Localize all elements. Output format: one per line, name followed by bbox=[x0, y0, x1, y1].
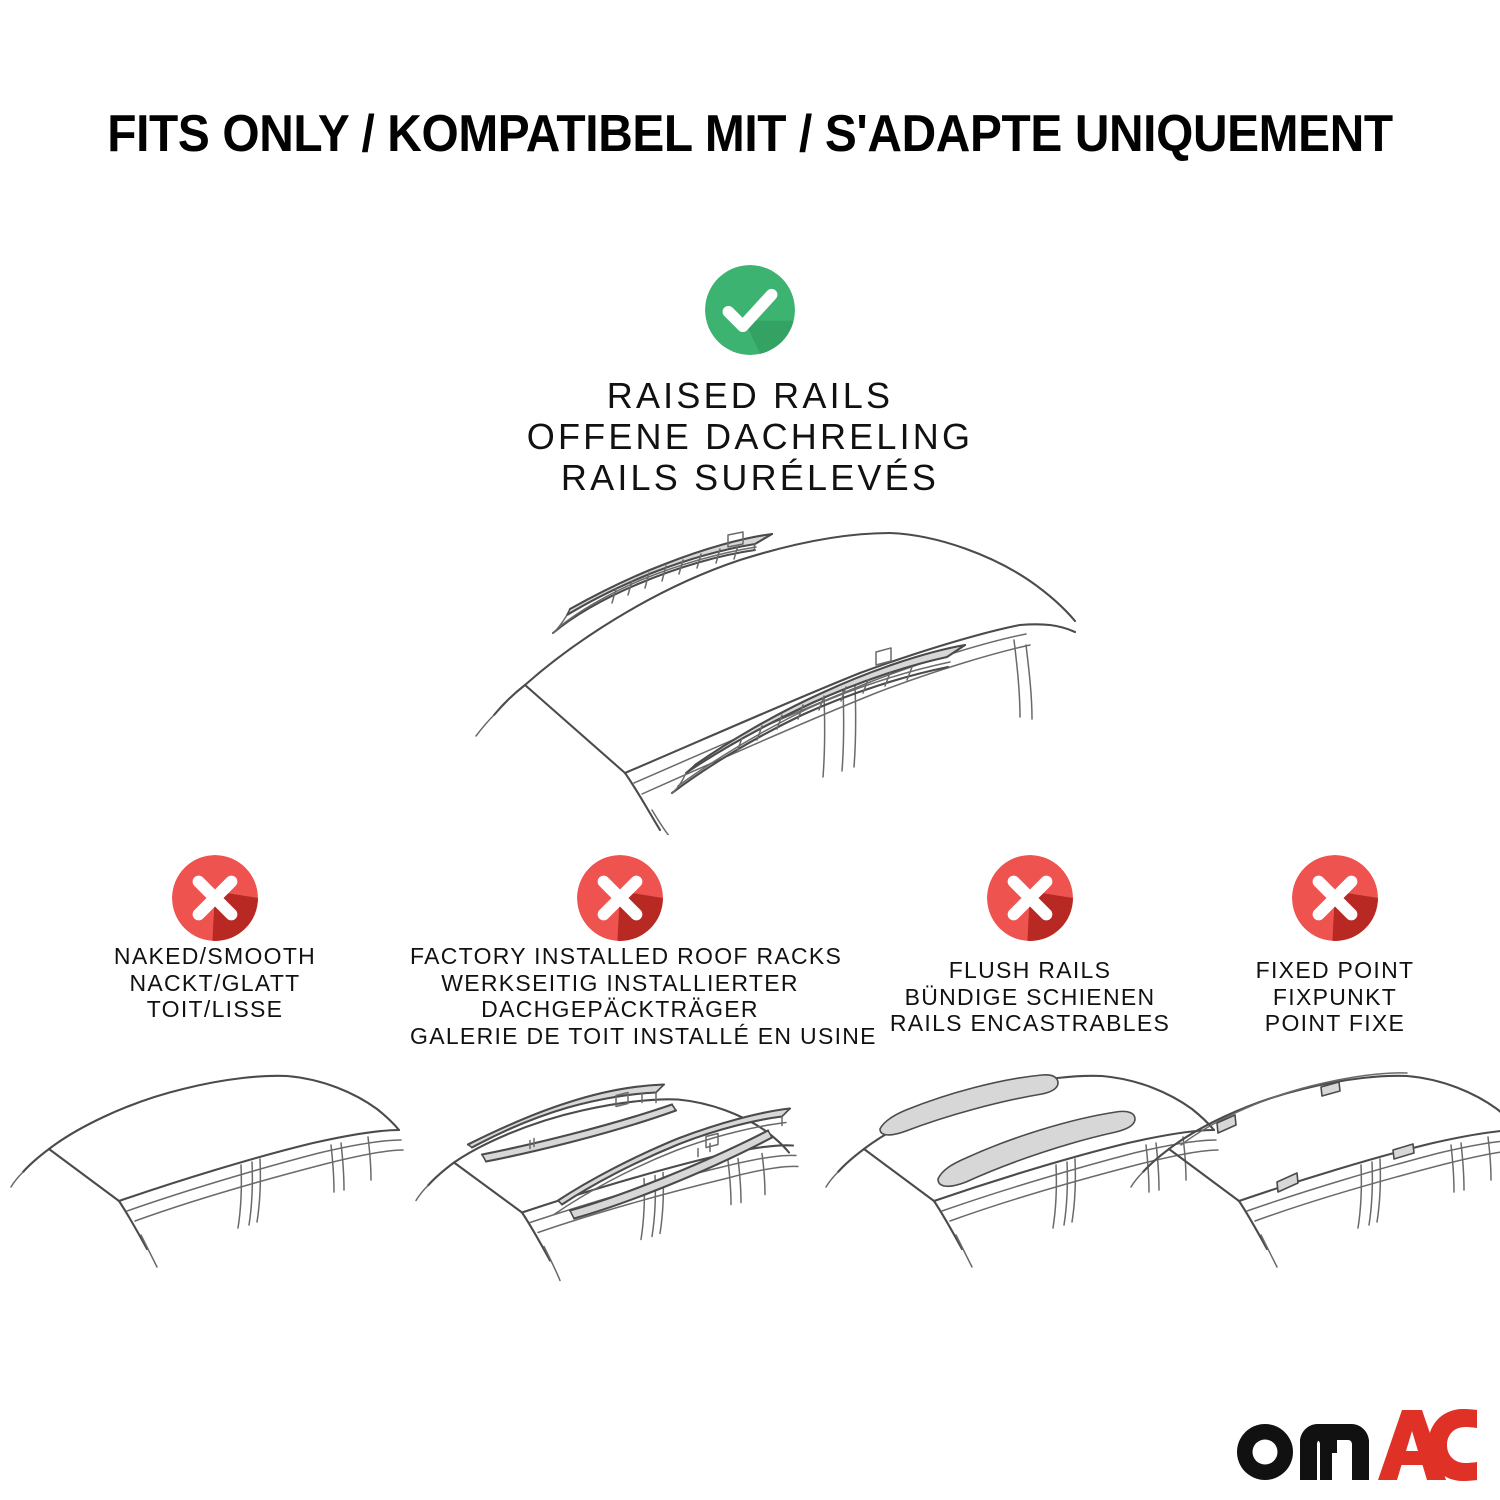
compatible-label-line-3: RAILS SURÉLEVÉS bbox=[0, 457, 1500, 498]
option-label-line-2: FIXPUNKT bbox=[1125, 984, 1500, 1011]
car-roof-naked-smooth-illustration bbox=[5, 1057, 425, 1287]
car-roof-factory-installed-roof-racks-illustration bbox=[410, 1083, 830, 1313]
incompatible-option-factory-roof-racks: FACTORY INSTALLED ROOF RACKS WERKSEITIG … bbox=[410, 845, 830, 1285]
check-circle-icon bbox=[705, 265, 795, 355]
logo-letter-o bbox=[1237, 1424, 1293, 1480]
option-label-line-1: NAKED/SMOOTH bbox=[5, 943, 425, 970]
car-roof-fixed-point-illustration bbox=[1125, 1057, 1500, 1287]
compatible-label-line-2: OFFENE DACHRELING bbox=[0, 416, 1500, 457]
omac-logo bbox=[1232, 1408, 1477, 1482]
option-label-line-1: FIXED POINT bbox=[1125, 957, 1500, 984]
option-label-line-3: TOIT/LISSE bbox=[5, 996, 425, 1023]
option-label: FIXED POINT FIXPUNKT POINT FIXE bbox=[1125, 957, 1500, 1037]
logo-letter-m bbox=[1300, 1424, 1369, 1480]
option-label-line-2: NACKT/GLATT bbox=[5, 970, 425, 997]
incompatible-option-fixed-point: FIXED POINT FIXPUNKT POINT FIXE bbox=[1125, 845, 1500, 1285]
cross-circle-icon bbox=[172, 855, 258, 941]
option-label-line-3: POINT FIXE bbox=[1125, 1010, 1500, 1037]
incompatible-option-naked-smooth: NAKED/SMOOTH NACKT/GLATT TOIT/LISSE bbox=[5, 845, 425, 1285]
compatible-label-line-1: RAISED RAILS bbox=[0, 375, 1500, 416]
cross-circle-icon bbox=[987, 855, 1073, 941]
option-label: NAKED/SMOOTH NACKT/GLATT TOIT/LISSE bbox=[5, 943, 425, 1023]
fitment-infographic: FITS ONLY / KOMPATIBEL MIT / S'ADAPTE UN… bbox=[0, 0, 1500, 1500]
option-label-line-3: DACHGEPÄCKTRÄGER bbox=[410, 996, 830, 1023]
car-roof-with-raised-rails-illustration bbox=[420, 505, 1100, 835]
option-label-line-2: WERKSEITIG INSTALLIERTER bbox=[410, 970, 830, 997]
cross-circle-icon bbox=[1292, 855, 1378, 941]
compatible-label: RAISED RAILS OFFENE DACHRELING RAILS SUR… bbox=[0, 375, 1500, 498]
option-label-line-1: FACTORY INSTALLED ROOF RACKS bbox=[410, 943, 830, 970]
page-title: FITS ONLY / KOMPATIBEL MIT / S'ADAPTE UN… bbox=[60, 104, 1440, 164]
option-label: FACTORY INSTALLED ROOF RACKS WERKSEITIG … bbox=[410, 943, 830, 1049]
option-label-line-4: GALERIE DE TOIT INSTALLÉ EN USINE bbox=[410, 1023, 830, 1050]
cross-circle-icon bbox=[577, 855, 663, 941]
